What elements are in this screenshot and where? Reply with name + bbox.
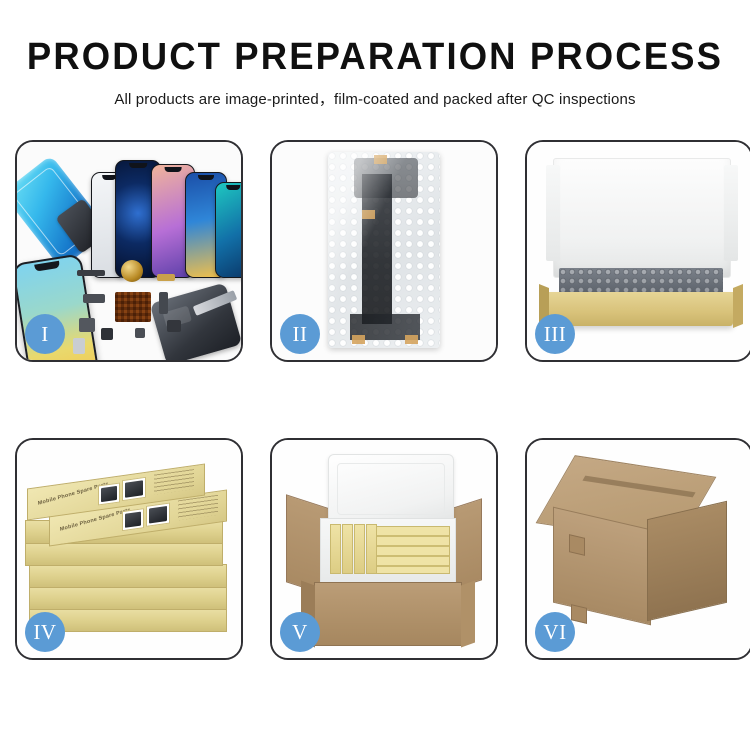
speaker-component bbox=[121, 260, 143, 282]
spare-part bbox=[77, 270, 105, 276]
box-spec-text bbox=[178, 495, 218, 521]
tape-strip bbox=[362, 210, 375, 219]
carton-tape bbox=[569, 534, 585, 556]
spare-part bbox=[83, 294, 105, 303]
step-badge-2: II bbox=[280, 314, 320, 354]
box-window bbox=[98, 482, 120, 505]
page-title: PRODUCT PREPARATION PROCESS bbox=[15, 38, 735, 78]
retail-box-edge bbox=[354, 524, 365, 574]
spare-part bbox=[135, 328, 145, 338]
carton-tape bbox=[571, 604, 587, 624]
step-badge-4: IV bbox=[25, 612, 65, 652]
step-badge-1: I bbox=[25, 314, 65, 354]
step-badge-5: V bbox=[280, 612, 320, 652]
tape-strip bbox=[352, 335, 365, 344]
phone-display-teal bbox=[215, 182, 241, 278]
header: PRODUCT PREPARATION PROCESS All products… bbox=[0, 38, 750, 109]
retail-box bbox=[29, 586, 227, 610]
tape-strip bbox=[405, 335, 418, 344]
step-badge-6: VI bbox=[535, 612, 575, 652]
step-panel-5: V bbox=[270, 438, 498, 660]
step-badge-3: III bbox=[535, 314, 575, 354]
retail-box bbox=[29, 564, 227, 588]
spare-part bbox=[73, 338, 85, 354]
spare-part bbox=[167, 320, 181, 332]
box-window bbox=[122, 508, 144, 531]
carton-side-face bbox=[647, 501, 727, 621]
box-window bbox=[122, 477, 146, 501]
phone-lineup bbox=[89, 148, 241, 278]
wrapped-lcd bbox=[362, 174, 392, 324]
retail-box-edge bbox=[330, 524, 341, 574]
step-panel-1: I bbox=[15, 140, 243, 362]
page-subtitle: All products are image-printed，film-coat… bbox=[0, 88, 750, 109]
process-steps-grid: I II bbox=[15, 140, 740, 660]
spare-part bbox=[79, 318, 95, 332]
spare-part bbox=[159, 292, 168, 314]
kraft-inner-box bbox=[549, 292, 733, 326]
step-panel-3: III bbox=[525, 140, 750, 362]
step-panel-2: II bbox=[270, 140, 498, 362]
retail-box-edge bbox=[342, 524, 353, 574]
box-window bbox=[146, 503, 170, 527]
foam-sheet-lid bbox=[553, 158, 731, 278]
infographic-page: PRODUCT PREPARATION PROCESS All products… bbox=[0, 0, 750, 750]
step-panel-4: Mobile Phone Spare Parts Mobile Phone Sp… bbox=[15, 438, 243, 660]
logic-board-component bbox=[115, 292, 151, 322]
spare-part bbox=[101, 328, 113, 340]
spare-part bbox=[157, 274, 175, 281]
step-panel-6: VI bbox=[525, 438, 750, 660]
carton-body bbox=[314, 582, 462, 646]
tape-strip bbox=[374, 155, 387, 164]
retail-boxes-stacked bbox=[376, 526, 450, 574]
foam-lid-open bbox=[328, 454, 454, 524]
box-spec-text bbox=[154, 469, 194, 495]
bubble-wrap-pouch bbox=[328, 152, 440, 348]
